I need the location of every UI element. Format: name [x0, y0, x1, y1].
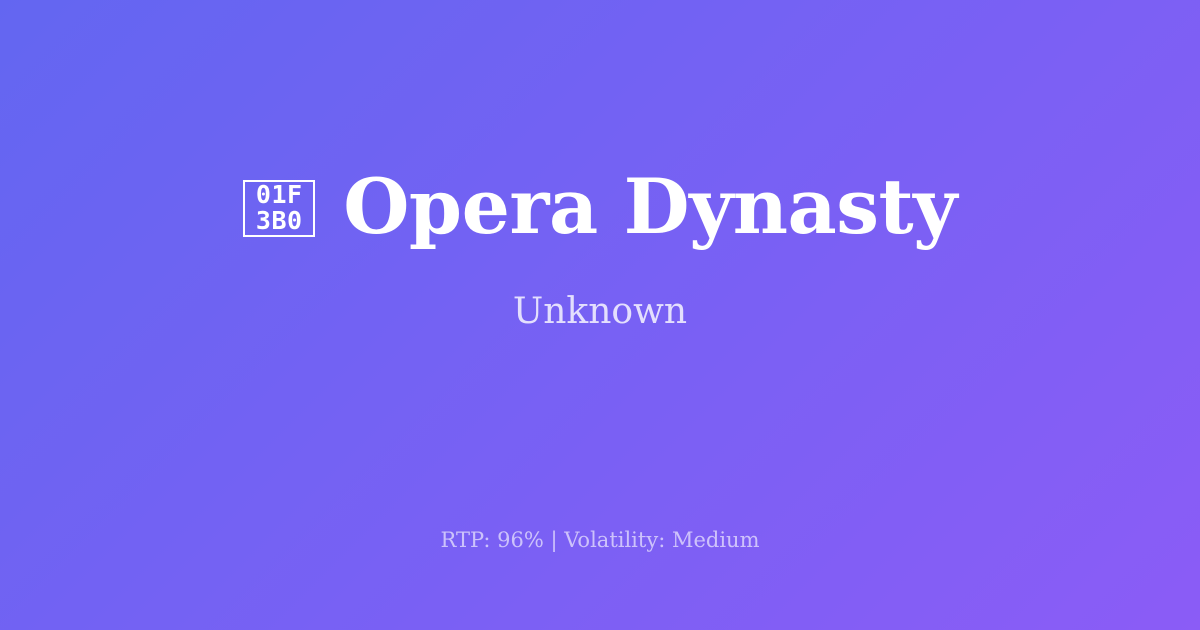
- card-subtitle: Unknown: [513, 290, 687, 333]
- title-row: 01F 3B0 Opera Dynasty: [243, 167, 957, 247]
- slot-machine-icon: 01F 3B0: [243, 180, 315, 237]
- slot-machine-icon-codepoint-bottom: 3B0: [256, 208, 303, 234]
- slot-machine-icon-codepoint-top: 01F: [256, 182, 303, 208]
- open-graph-card: 01F 3B0 Opera Dynasty Unknown RTP: 96% |…: [0, 0, 1200, 630]
- card-hero: 01F 3B0 Opera Dynasty Unknown: [0, 0, 1200, 500]
- card-stats-line: RTP: 96% | Volatility: Medium: [0, 528, 1200, 553]
- page-title: Opera Dynasty: [343, 167, 957, 247]
